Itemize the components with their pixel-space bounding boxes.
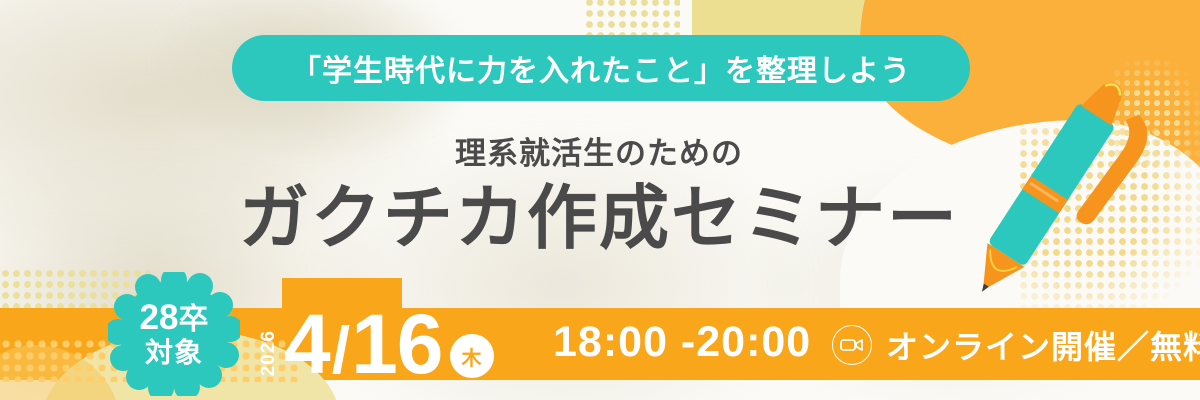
badge-line-1: 28卒 bbox=[140, 299, 209, 336]
video-camera-icon bbox=[832, 325, 872, 365]
event-format: オンライン開催／無料 bbox=[832, 322, 1200, 368]
headline-pill: 「学生時代に力を入れたこと」を整理しよう bbox=[232, 35, 970, 101]
event-day: 16 bbox=[351, 297, 442, 391]
subtitle: 理系就活生のための bbox=[0, 128, 1199, 173]
seminar-banner: 「学生時代に力を入れたこと」を整理しよう 理系就活生のための ガクチカ作成セミナ… bbox=[0, 0, 1200, 400]
event-weekday-badge: 木 bbox=[450, 334, 494, 378]
date-separator: / bbox=[330, 313, 351, 387]
graduation-year-badge: 28卒 対象 bbox=[108, 272, 240, 396]
badge-year-suffix: 卒 bbox=[178, 303, 208, 336]
event-month: 4 bbox=[284, 297, 330, 391]
event-time: 18:00 -20:00 bbox=[553, 318, 811, 367]
headline-pill-text: 「学生時代に力を入れたこと」を整理しよう bbox=[291, 46, 911, 90]
badge-line-2: 対象 bbox=[145, 337, 203, 369]
event-date-group: 2026 4/16 木 bbox=[258, 288, 494, 384]
page-title: ガクチカ作成セミナー bbox=[0, 182, 1199, 256]
event-format-label: オンライン開催／無料 bbox=[886, 322, 1200, 368]
event-year: 2026 bbox=[258, 330, 280, 376]
badge-year-number: 28 bbox=[140, 298, 179, 337]
event-date: 4/16 bbox=[284, 308, 443, 380]
